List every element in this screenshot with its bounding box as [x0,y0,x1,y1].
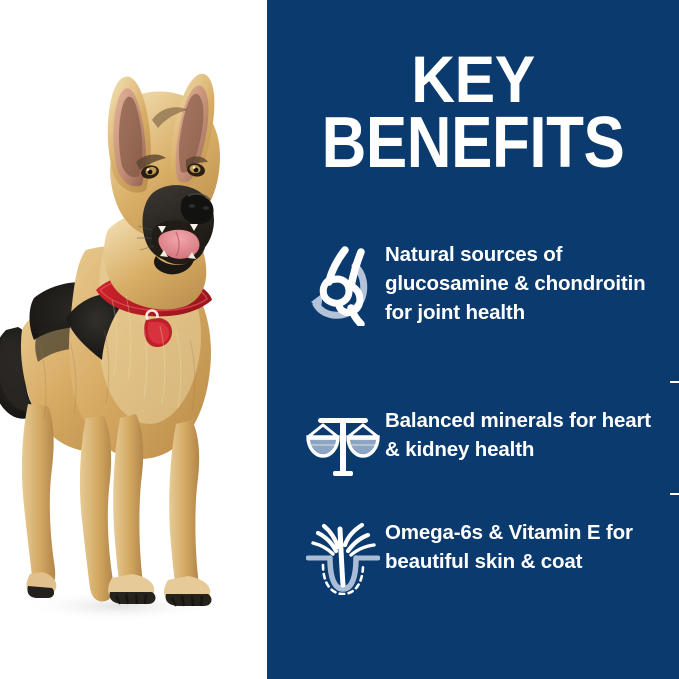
hair-follicle-icon [301,516,385,600]
benefit-label-joint-health: Natural sources of glucosamine & chondro… [385,238,663,327]
page-title: KEY BENEFITS [267,48,679,176]
balance-scale-icon [301,404,385,488]
dog-photo-panel [0,0,267,679]
benefit-divider [670,493,679,495]
key-benefits-graphic: KEY BENEFITS [0,0,679,679]
german-shepherd-dog-photo [0,0,267,679]
joint-rotation-icon [301,238,385,352]
page-title-line-1: KEY [283,48,662,110]
key-benefits-panel: KEY BENEFITS [267,0,679,679]
page-title-line-2: BENEFITS [296,110,650,176]
benefit-item-balanced-minerals: Balanced minerals for heart & kidney hea… [301,404,663,488]
benefit-divider [670,381,679,383]
benefit-label-skin-and-coat: Omega-6s & Vitamin E for beautiful skin … [385,516,663,576]
benefit-label-balanced-minerals: Balanced minerals for heart & kidney hea… [385,404,663,464]
benefit-item-skin-and-coat: Omega-6s & Vitamin E for beautiful skin … [301,516,663,600]
benefit-item-joint-health: Natural sources of glucosamine & chondro… [301,238,663,352]
